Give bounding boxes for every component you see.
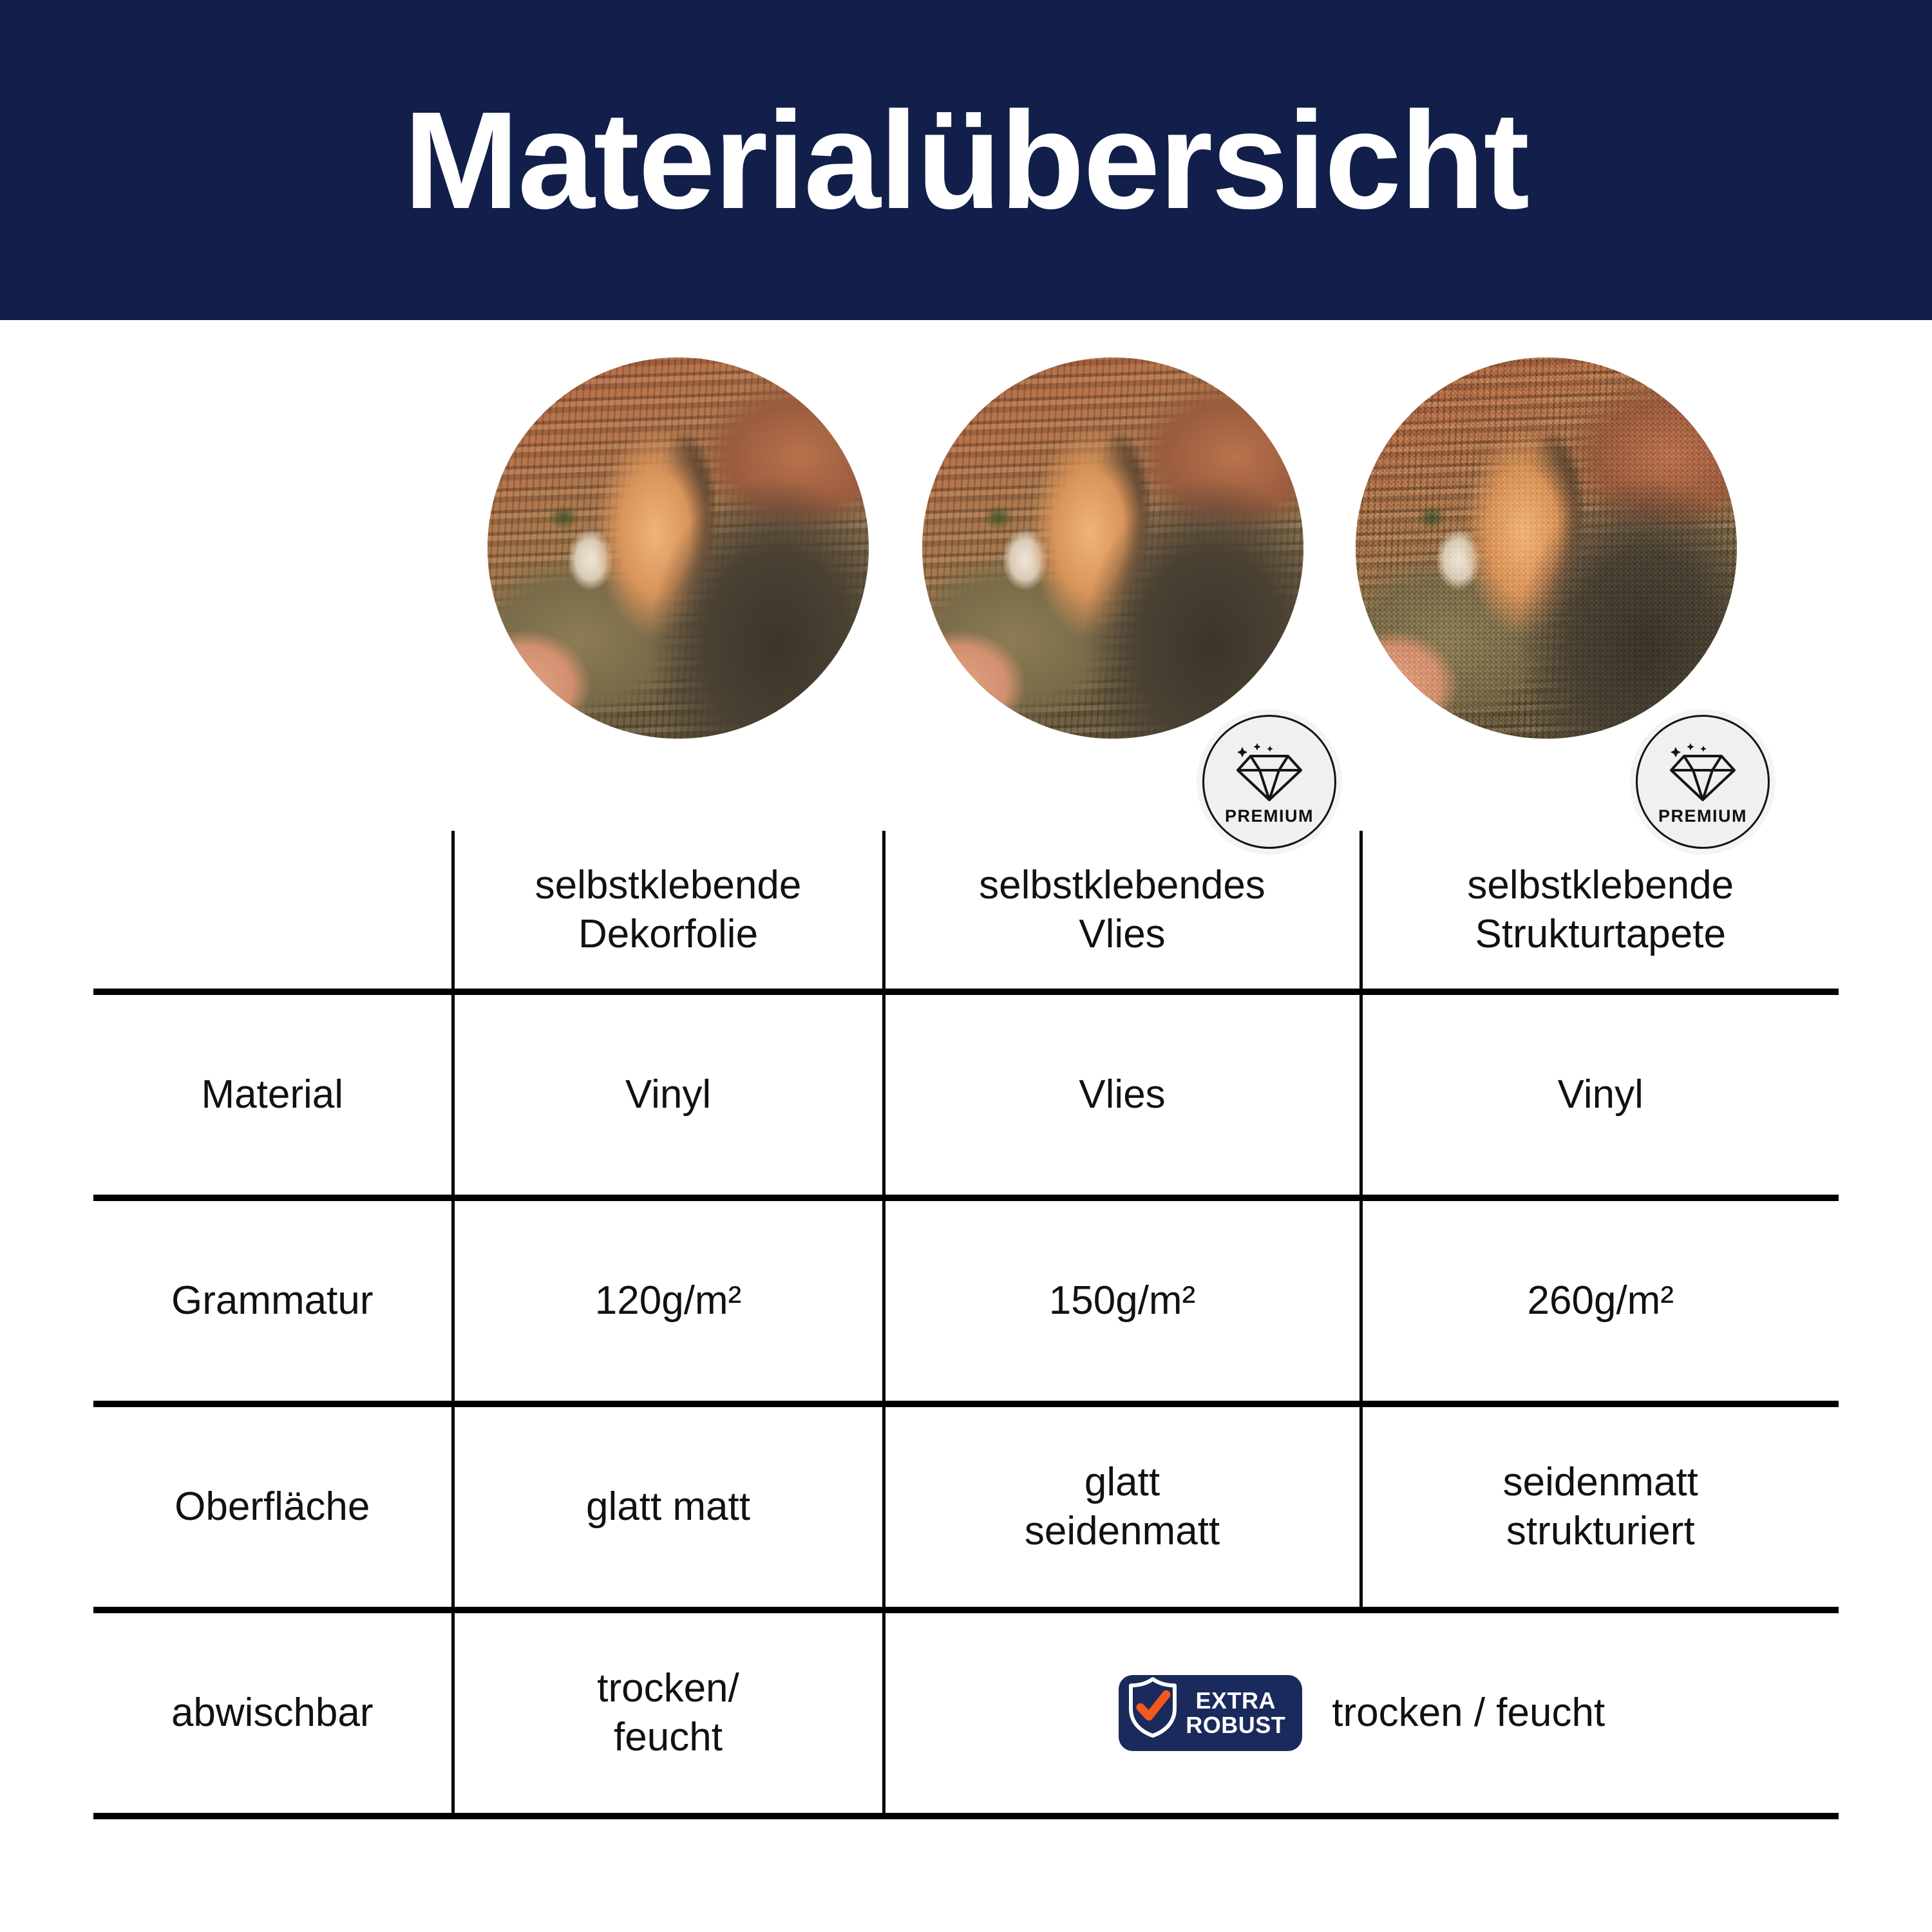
premium-badge-vlies: PREMIUM [1202, 715, 1336, 849]
row-label-oberflaeche: Oberfläche [93, 1404, 453, 1610]
canyon-image-textured [1356, 357, 1737, 739]
header-banner: Materialübersicht [0, 0, 1932, 320]
swatch-dekorfolie[interactable] [488, 357, 869, 739]
table-row-grammatur: Grammatur 120g/m² 150g/m² 260g/m² [93, 1198, 1839, 1404]
cell-material-vlies: Vlies [884, 992, 1361, 1198]
page-title: Materialübersicht [404, 91, 1528, 229]
diamond-icon [1231, 738, 1307, 804]
cell-material-dekorfolie: Vinyl [453, 992, 884, 1198]
swatch-strukturtapete[interactable] [1356, 357, 1737, 739]
cell-oberflaeche-dekorfolie: glatt matt [453, 1404, 884, 1610]
table-row-oberflaeche: Oberfläche glatt matt glatt seidenmatt s… [93, 1404, 1839, 1610]
cell-material-strukturtapete: Vinyl [1361, 992, 1839, 1198]
row-label-material: Material [93, 992, 453, 1198]
column-header-dekorfolie: selbstklebende Dekorfolie [453, 831, 884, 992]
cell-oberflaeche-strukturtapete: seidenmatt strukturiert [1361, 1404, 1839, 1610]
table-row-abwischbar: abwischbar trocken/ feucht [93, 1610, 1839, 1816]
canyon-image [488, 357, 869, 739]
extra-robust-line2: ROBUST [1186, 1713, 1285, 1738]
extra-robust-line1: EXTRA [1186, 1689, 1285, 1713]
cell-grammatur-strukturtapete: 260g/m² [1361, 1198, 1839, 1404]
shield-check-icon [1128, 1677, 1178, 1749]
row-label-grammatur: Grammatur [93, 1198, 453, 1404]
row-label-abwischbar: abwischbar [93, 1610, 453, 1816]
canyon-image [922, 357, 1303, 739]
table-corner-cell [93, 831, 453, 992]
cell-abwischbar-dekorfolie: trocken/ feucht [453, 1610, 884, 1816]
material-swatch-row: PREMIUM PREMIUM [0, 348, 1932, 760]
diamond-icon [1665, 738, 1741, 804]
cell-grammatur-vlies: 150g/m² [884, 1198, 1361, 1404]
swatch-vlies[interactable] [922, 357, 1303, 739]
cell-oberflaeche-vlies: glatt seidenmatt [884, 1404, 1361, 1610]
cell-abwischbar-merged-text: trocken / feucht [1332, 1689, 1605, 1738]
column-header-vlies: selbstklebendes Vlies [884, 831, 1361, 992]
premium-badge-strukturtapete: PREMIUM [1636, 715, 1770, 849]
table-row-material: Material Vinyl Vlies Vinyl [93, 992, 1839, 1198]
material-comparison-table: selbstklebende Dekorfolie selbstklebende… [93, 831, 1839, 1819]
premium-badge-label: PREMIUM [1225, 806, 1314, 826]
cell-grammatur-dekorfolie: 120g/m² [453, 1198, 884, 1404]
column-header-strukturtapete: selbstklebende Strukturtapete [1361, 831, 1839, 992]
cell-abwischbar-merged: EXTRA ROBUST trocken / feucht [884, 1610, 1839, 1816]
table-header-row: selbstklebende Dekorfolie selbstklebende… [93, 831, 1839, 992]
extra-robust-badge: EXTRA ROBUST [1119, 1675, 1302, 1751]
premium-badge-label: PREMIUM [1658, 806, 1747, 826]
